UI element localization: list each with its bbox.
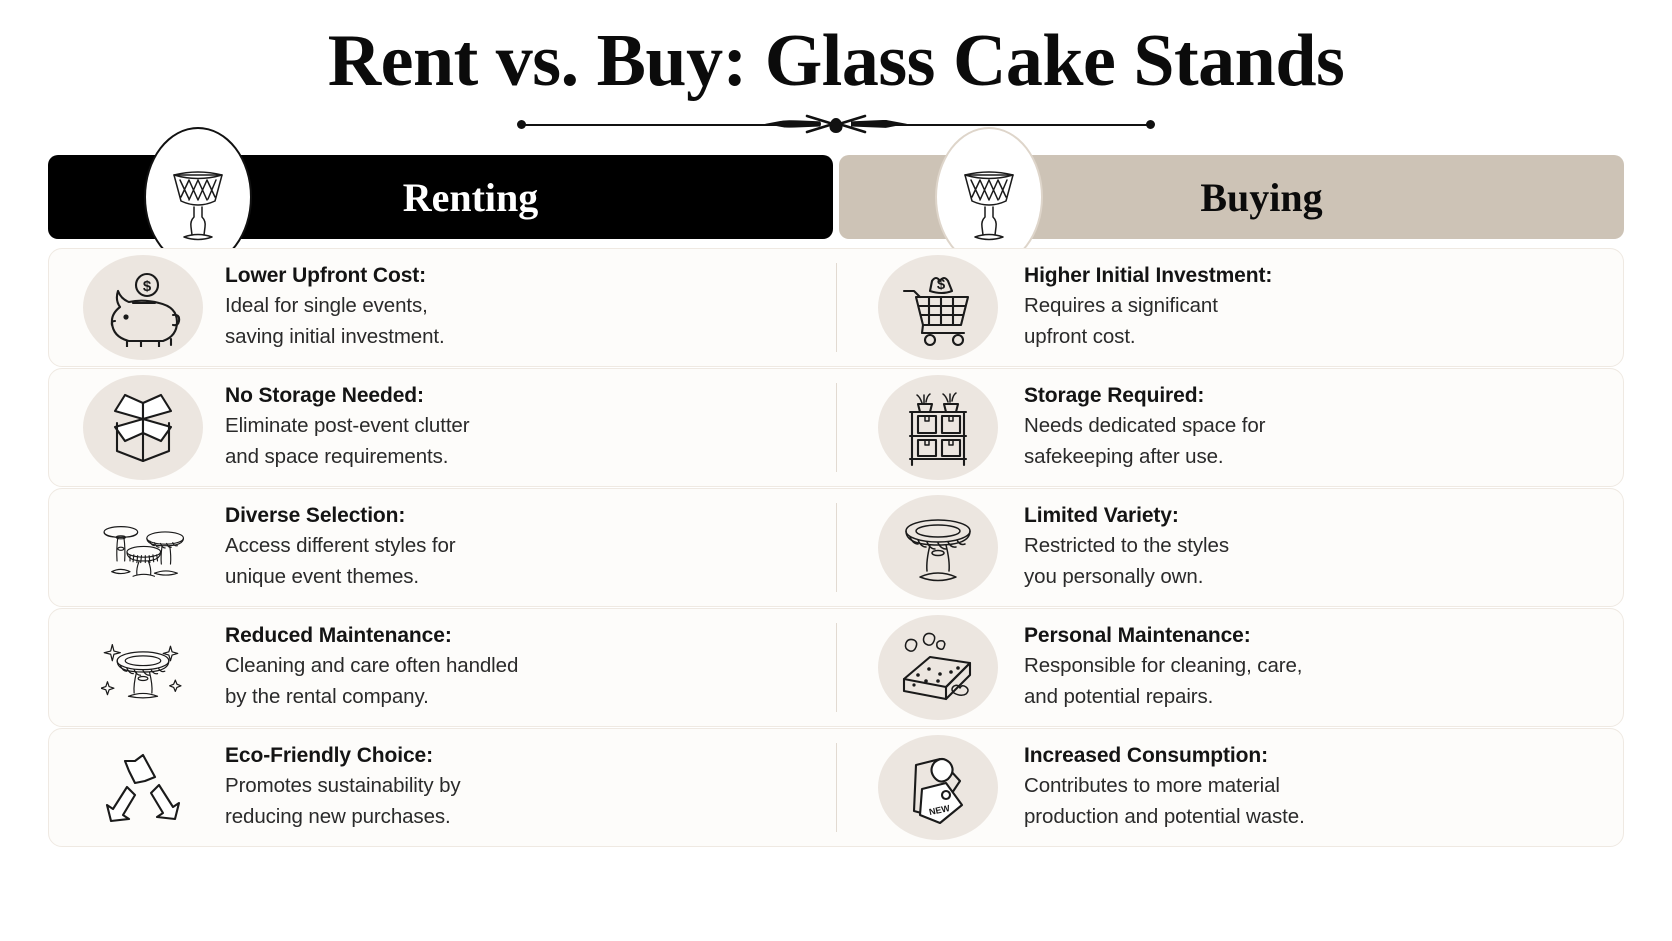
icon-container — [83, 495, 203, 600]
column-header-renting[interactable]: Renting — [48, 155, 833, 239]
comparison-rows: $ Lower Upfront Cost: Ideal for single e… — [48, 248, 1624, 848]
row-text-buying: Storage Required: Needs dedicated space … — [998, 383, 1265, 472]
row-cell-buying: NEW Increased Consumption: Contributes t… — [836, 729, 1623, 846]
row-body-line-1: Requires a significant — [1024, 291, 1272, 321]
row-cell-renting: No Storage Needed: Eliminate post-event … — [49, 369, 836, 486]
icon-container — [83, 615, 203, 720]
row-heading: Eco-Friendly Choice: — [225, 743, 461, 769]
single-cake-stand-icon — [896, 509, 980, 587]
ornamental-divider — [501, 112, 1171, 138]
storage-shelf-icon — [896, 389, 980, 467]
icon-container — [878, 375, 998, 480]
row-cell-buying: $ Higher Initial Investment: Requires a … — [836, 249, 1623, 366]
table-row: No Storage Needed: Eliminate post-event … — [48, 368, 1624, 487]
ornament-line-right — [879, 124, 1149, 126]
icon-container — [878, 615, 998, 720]
row-heading: Diverse Selection: — [225, 503, 456, 529]
row-text-renting: Diverse Selection: Access different styl… — [203, 503, 456, 592]
row-cell-buying: Storage Required: Needs dedicated space … — [836, 369, 1623, 486]
row-cell-renting: Diverse Selection: Access different styl… — [49, 489, 836, 606]
icon-container — [83, 735, 203, 840]
row-body-line-1: Promotes sustainability by — [225, 771, 461, 801]
recycle-icon — [101, 749, 185, 827]
table-row: Reduced Maintenance: Cleaning and care o… — [48, 608, 1624, 727]
row-heading: Increased Consumption: — [1024, 743, 1305, 769]
row-body-line-2: reducing new purchases. — [225, 802, 461, 832]
row-heading: Higher Initial Investment: — [1024, 263, 1272, 289]
column-headers: Renting Buying — [48, 155, 1624, 239]
title-section: Rent vs. Buy: Glass Cake Stands — [0, 0, 1672, 138]
ornament-center — [829, 112, 843, 138]
row-body-line-2: production and potential waste. — [1024, 802, 1305, 832]
column-header-buying[interactable]: Buying — [839, 155, 1624, 239]
shopping-cart-money-icon: $ — [896, 269, 980, 347]
dollar-symbol: $ — [937, 276, 946, 293]
row-body-line-2: upfront cost. — [1024, 322, 1272, 352]
infographic-page: Rent vs. Buy: Glass Cake Stands — [0, 0, 1672, 941]
row-body-line-1: Cleaning and care often handled — [225, 651, 518, 681]
row-body-line-1: Ideal for single events, — [225, 291, 445, 321]
open-box-icon — [101, 389, 185, 467]
row-text-buying: Higher Initial Investment: Requires a si… — [998, 263, 1272, 352]
glass-cake-stand-icon — [162, 149, 234, 245]
row-text-buying: Increased Consumption: Contributes to mo… — [998, 743, 1305, 832]
row-heading: Personal Maintenance: — [1024, 623, 1302, 649]
row-text-renting: Eco-Friendly Choice: Promotes sustainabi… — [203, 743, 461, 832]
row-body-line-2: you personally own. — [1024, 562, 1229, 592]
row-cell-buying: Personal Maintenance: Responsible for cl… — [836, 609, 1623, 726]
row-heading: Reduced Maintenance: — [225, 623, 518, 649]
row-body-line-2: and potential repairs. — [1024, 682, 1302, 712]
multiple-cake-stands-icon — [101, 509, 185, 587]
row-body-line-2: saving initial investment. — [225, 322, 445, 352]
table-row: Eco-Friendly Choice: Promotes sustainabi… — [48, 728, 1624, 847]
ornament-dot-right — [1146, 120, 1155, 129]
row-heading: Storage Required: — [1024, 383, 1265, 409]
row-heading: Limited Variety: — [1024, 503, 1229, 529]
row-body-line-2: safekeeping after use. — [1024, 442, 1265, 472]
ornament-line-left — [523, 124, 793, 126]
row-body-line-1: Restricted to the styles — [1024, 531, 1229, 561]
sparkling-cake-stand-icon — [101, 629, 185, 707]
row-body-line-1: Eliminate post-event clutter — [225, 411, 469, 441]
badge-buying — [935, 127, 1043, 267]
row-heading: Lower Upfront Cost: — [225, 263, 445, 289]
row-text-renting: No Storage Needed: Eliminate post-event … — [203, 383, 469, 472]
icon-container: NEW — [878, 735, 998, 840]
ornament-wing-left — [799, 114, 833, 134]
row-cell-buying: Limited Variety: Restricted to the style… — [836, 489, 1623, 606]
badge-renting — [144, 127, 252, 267]
table-row: Diverse Selection: Access different styl… — [48, 488, 1624, 607]
row-cell-renting: $ Lower Upfront Cost: Ideal for single e… — [49, 249, 836, 366]
new-price-tag-icon: NEW — [896, 749, 980, 827]
row-text-renting: Lower Upfront Cost: Ideal for single eve… — [203, 263, 445, 352]
sponge-icon — [896, 629, 980, 707]
row-text-buying: Limited Variety: Restricted to the style… — [998, 503, 1229, 592]
icon-container — [878, 495, 998, 600]
page-title: Rent vs. Buy: Glass Cake Stands — [0, 22, 1672, 102]
row-body-line-1: Access different styles for — [225, 531, 456, 561]
glass-cake-stand-icon — [953, 149, 1025, 245]
row-text-buying: Personal Maintenance: Responsible for cl… — [998, 623, 1302, 712]
row-heading: No Storage Needed: — [225, 383, 469, 409]
row-text-renting: Reduced Maintenance: Cleaning and care o… — [203, 623, 518, 712]
row-body-line-2: unique event themes. — [225, 562, 456, 592]
row-body-line-1: Contributes to more material — [1024, 771, 1305, 801]
row-body-line-2: and space requirements. — [225, 442, 469, 472]
row-body-line-1: Responsible for cleaning, care, — [1024, 651, 1302, 681]
icon-container: $ — [83, 255, 203, 360]
icon-container: $ — [878, 255, 998, 360]
row-cell-renting: Reduced Maintenance: Cleaning and care o… — [49, 609, 836, 726]
row-body-line-1: Needs dedicated space for — [1024, 411, 1265, 441]
ornament-wing-right — [839, 114, 873, 134]
dollar-symbol: $ — [143, 278, 152, 295]
table-row: $ Lower Upfront Cost: Ideal for single e… — [48, 248, 1624, 367]
piggy-bank-icon: $ — [101, 269, 185, 347]
row-cell-renting: Eco-Friendly Choice: Promotes sustainabi… — [49, 729, 836, 846]
icon-container — [83, 375, 203, 480]
row-body-line-2: by the rental company. — [225, 682, 518, 712]
